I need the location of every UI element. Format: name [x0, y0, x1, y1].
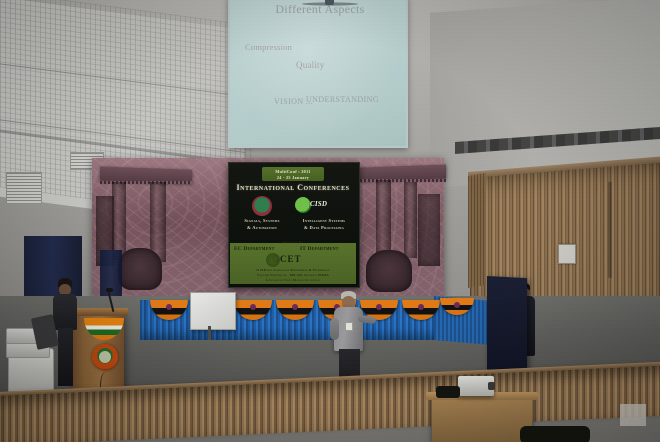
screen-glare — [230, 0, 406, 146]
gcet-logo-mark — [266, 253, 280, 267]
organized-by-label: Organized By — [262, 240, 324, 244]
microphone-head — [106, 288, 113, 292]
temple-pillar-left — [112, 182, 126, 260]
event-badge-line1: MultiConf : 2011 — [262, 169, 324, 174]
speaker-name-badge — [345, 322, 353, 331]
wall-plaque — [558, 244, 576, 264]
speaker-arm-left — [330, 318, 339, 340]
slide-word-quality: Quality — [296, 60, 324, 70]
cisd-logo — [295, 197, 311, 213]
projector-bag — [436, 386, 460, 398]
institute-name: G H Patel College of Engineering & Techn… — [230, 268, 356, 273]
slide-word-understanding: UNDERSTANDING — [306, 95, 379, 104]
projector-lens — [488, 382, 495, 390]
podium-emblem-center — [99, 351, 111, 363]
podium-top — [68, 308, 128, 316]
ceiling-fan-icon — [300, 0, 360, 11]
temple-pillar-right — [376, 180, 391, 260]
foreground-dark-object — [520, 426, 590, 442]
it-department-label: IT Department — [300, 246, 339, 252]
temple-pillar-right-2 — [404, 182, 417, 258]
banner-headline: International Conferences — [232, 183, 354, 192]
temple-elephant-left — [118, 248, 162, 290]
ec-department-label: EC Department — [234, 246, 274, 252]
event-badge-line2: 24 - 25 January — [262, 175, 324, 180]
conference-2-title-line1: Intelligent Systems — [294, 218, 354, 224]
conference-1-title-line2: & Automation — [234, 225, 290, 231]
whiteboard-stand — [208, 326, 211, 340]
temple-shrine-right — [418, 194, 440, 266]
foreground-paper — [620, 404, 646, 426]
conference-2-title-line2: & Data Processing — [294, 225, 354, 231]
conference-hall-photo: Different Aspects Compression Quality VI… — [0, 0, 660, 442]
wall-seam — [608, 182, 612, 278]
whiteboard — [190, 292, 236, 330]
institute-address: Vallabh Vidyanagar - 388 120, Gujarat, I… — [230, 273, 356, 278]
stacked-chairs — [4, 318, 60, 390]
slide-word-compression: Compression — [245, 42, 292, 52]
wood-slat-wall-return — [468, 173, 486, 288]
projector-table — [432, 394, 532, 442]
cisd-logo-text: CISD — [310, 200, 327, 208]
institute-trust: A Charutar Vidya Mandal Institution — [230, 278, 356, 283]
temple-elephant-right — [366, 250, 412, 292]
canopy-teeth-right — [360, 179, 446, 182]
sigsa-logo — [252, 196, 272, 216]
vent-grille — [6, 172, 42, 204]
podium-host-legs — [58, 328, 73, 386]
conference-1-title-line1: Signals, Systems — [234, 218, 290, 224]
